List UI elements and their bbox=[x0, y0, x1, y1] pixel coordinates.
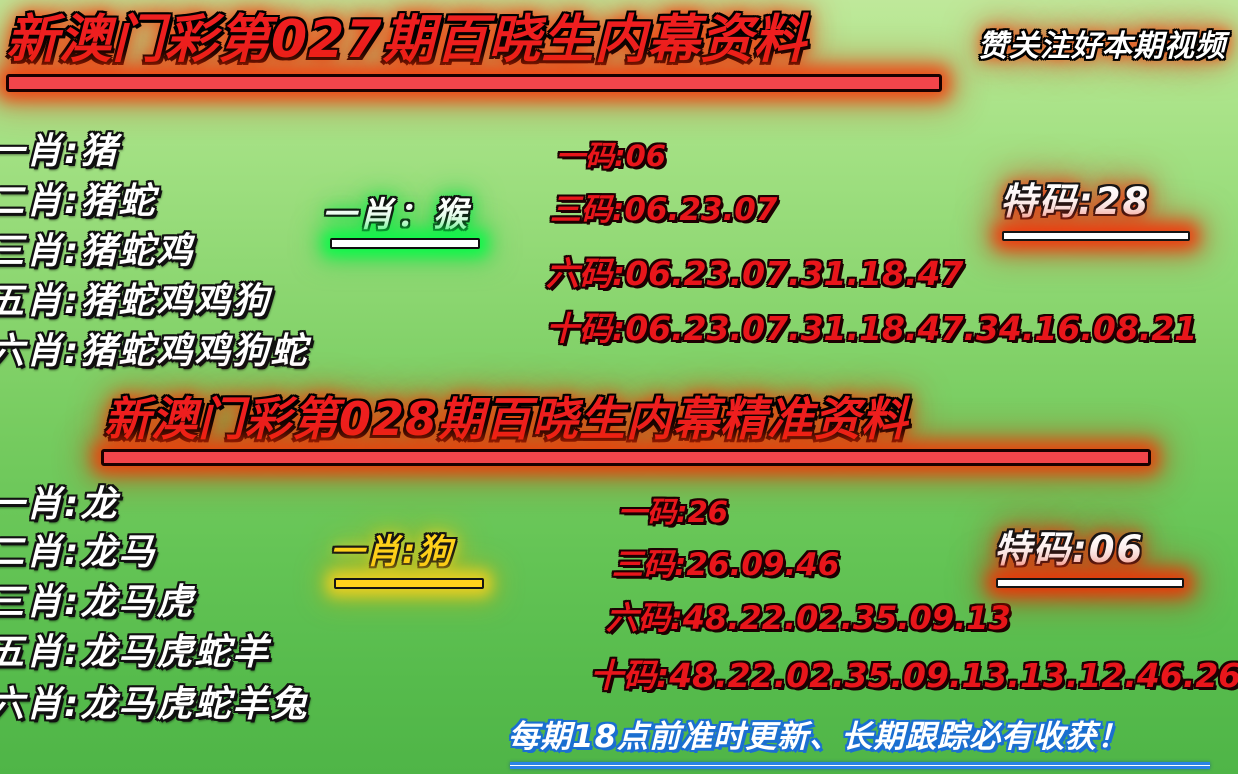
section1-title-underline bbox=[6, 74, 942, 92]
section1-pick-label: 一肖：猴 bbox=[322, 198, 470, 232]
section1-code-10: 十码:06.23.07.31.18.47.34.16.08.21 bbox=[546, 312, 1197, 345]
section1-special-number: 特码:28 bbox=[1000, 183, 1150, 220]
footer-notice: 每期18点前准时更新、长期跟踪必有收获！ bbox=[508, 722, 1129, 753]
section1-code-3: 三码:06.23.07 bbox=[550, 195, 777, 226]
section1-special-underline bbox=[1002, 231, 1190, 241]
section2-title-underline bbox=[101, 449, 1151, 466]
section1-code-1: 一码:06 bbox=[556, 142, 666, 171]
section2-zodiac-5: 五肖:龙马虎蛇羊 bbox=[0, 635, 270, 671]
section2-zodiac-3: 三肖:龙马虎 bbox=[0, 585, 194, 621]
section2-zodiac-2: 二肖:龙马 bbox=[0, 535, 156, 571]
section2-pick-label: 一肖:狗 bbox=[330, 535, 454, 569]
section1-pick-underline bbox=[330, 238, 480, 249]
section2-zodiac-6: 六肖:龙马虎蛇羊兔 bbox=[0, 687, 308, 723]
section1-title: 新澳门彩第027期百晓生内幕资料 bbox=[6, 14, 807, 66]
section2-title: 新澳门彩第028期百晓生内幕精准资料 bbox=[104, 396, 908, 442]
section2-code-1: 一码:26 bbox=[618, 498, 728, 527]
section2-zodiac-1: 一肖:龙 bbox=[0, 487, 118, 523]
section2-code-10: 十码:48.22.02.35.09.13.13.12.46.26.03 bbox=[590, 659, 1238, 692]
section1-zodiac-5: 五肖:猪蛇鸡鸡狗 bbox=[0, 284, 270, 320]
section2-pick-underline bbox=[334, 578, 484, 589]
section2-special-underline bbox=[996, 578, 1184, 588]
poster-canvas: 新澳门彩第027期百晓生内幕资料 赞关注好本期视频 一肖:猪 二肖:猪蛇 三肖:… bbox=[0, 0, 1238, 774]
section1-zodiac-3: 三肖:猪蛇鸡 bbox=[0, 234, 194, 270]
section2-special-number: 特码:06 bbox=[994, 531, 1144, 568]
section2-code-3: 三码:26.09.46 bbox=[612, 550, 839, 581]
section1-zodiac-1: 一肖:猪 bbox=[0, 134, 118, 170]
section2-code-6: 六码:48.22.02.35.09.13 bbox=[606, 602, 1011, 634]
section1-zodiac-6: 六肖:猪蛇鸡鸡狗蛇 bbox=[0, 334, 308, 370]
section1-code-6: 六码:06.23.07.31.18.47 bbox=[546, 257, 963, 290]
footer-notice-underline bbox=[510, 762, 1210, 769]
section1-zodiac-2: 二肖:猪蛇 bbox=[0, 184, 156, 220]
section1-promo-text: 赞关注好本期视频 bbox=[978, 32, 1226, 62]
